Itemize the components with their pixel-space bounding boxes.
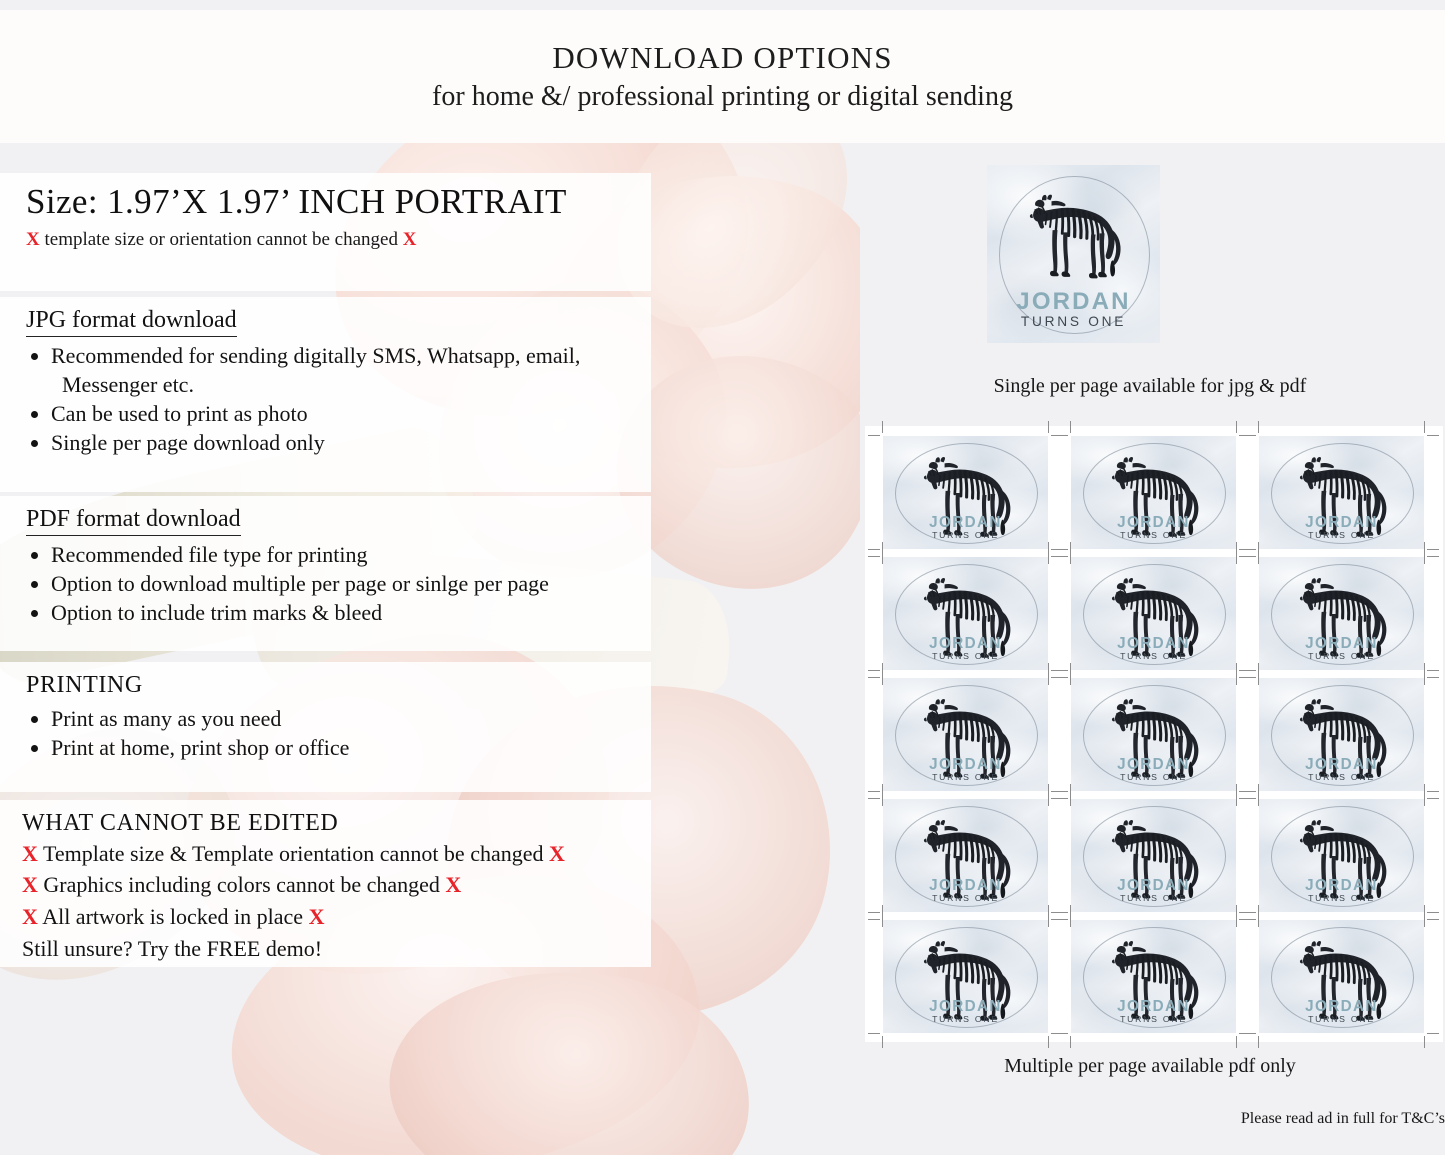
trim-mark [882,542,883,554]
sticker-subtitle: TURNS ONE [1071,773,1236,782]
sticker-subtitle: TURNS ONE [987,315,1160,329]
sticker-name: JORDAN [883,757,1048,772]
bullet-dot-icon [31,411,38,418]
cannot-edit-line-text: Graphics including colors cannot be chan… [43,872,439,897]
trim-mark [868,549,880,550]
list-item: Option to download multiple per page or … [26,569,637,598]
trim-mark [1258,1036,1259,1048]
trim-mark [868,919,880,920]
x-mark-icon: X [22,872,38,897]
sticker-subtitle: TURNS ONE [1259,531,1424,540]
sticker-subtitle: TURNS ONE [883,894,1048,903]
trim-mark [1427,919,1439,920]
x-mark-icon: X [403,229,417,250]
sticker-name: JORDAN [1071,515,1236,530]
trim-mark [1048,663,1049,675]
list-item-label: Single per page download only [51,430,325,455]
pdf-heading: PDF format download [26,506,241,536]
x-mark-icon: X [549,841,565,866]
trim-mark [1424,542,1425,554]
trim-mark [1258,784,1259,796]
trim-mark [882,1036,883,1048]
trim-mark [1427,791,1439,792]
printing-bullet-list: Print as many as you need Print at home,… [26,704,637,762]
sticker-grid-cell: JORDANTURNS ONE [883,678,1048,791]
sticker-card: JORDANTURNS ONE [883,920,1048,1033]
trim-mark [1056,1033,1068,1034]
caption-multiple-per-page: Multiple per page available pdf only [855,1055,1445,1078]
jpg-heading: JPG format download [26,307,237,337]
trim-mark [868,1033,880,1034]
sticker-card: JORDANTURNS ONE [1259,799,1424,912]
sticker-card: JORDANTURNS ONE [1259,920,1424,1033]
list-item-continuation: Messenger etc. [51,370,637,399]
list-item-label: Recommended file type for printing [51,542,367,567]
trim-mark [1244,435,1256,436]
sticker-card: JORDANTURNS ONE [1259,436,1424,549]
trim-mark [1424,663,1425,675]
trim-mark [1236,421,1237,433]
cannot-edit-closing: Still unsure? Try the FREE demo! [22,933,637,965]
sticker-subtitle: TURNS ONE [1071,894,1236,903]
sticker-card: JORDANTURNS ONE [987,165,1160,343]
single-sticker-preview: JORDANTURNS ONE [987,165,1160,343]
sticker-subtitle: TURNS ONE [1071,1015,1236,1024]
sticker-grid-cell: JORDANTURNS ONE [883,557,1048,670]
sticker-name: JORDAN [883,636,1048,651]
trim-mark [1236,1036,1237,1048]
trim-mark [1236,663,1237,675]
pdf-bullet-list: Recommended file type for printing Optio… [26,540,637,627]
trim-mark [1048,784,1049,796]
x-mark-icon: X [26,229,40,250]
list-item: Recommended for sending digitally SMS, W… [26,341,637,399]
trim-mark [1048,421,1049,433]
zebra-icon [1020,185,1127,285]
trim-mark [1244,791,1256,792]
list-item-label: Print as many as you need [51,706,281,731]
trim-mark [1424,905,1425,917]
trim-mark [1070,905,1071,917]
bullet-dot-icon [31,581,38,588]
list-item: Option to include trim marks & bleed [26,598,637,627]
sticker-name: JORDAN [1259,636,1424,651]
trim-mark [1236,784,1237,796]
trim-mark [1427,556,1439,557]
sticker-grid-cell: JORDANTURNS ONE [1071,678,1236,791]
sticker-card: JORDANTURNS ONE [883,799,1048,912]
sticker-subtitle: TURNS ONE [883,531,1048,540]
sticker-subtitle: TURNS ONE [883,652,1048,661]
list-item: Recommended file type for printing [26,540,637,569]
sticker-grid-cell: JORDANTURNS ONE [1259,920,1424,1033]
trim-mark [1056,677,1068,678]
trim-mark [1427,1033,1439,1034]
sticker-name: JORDAN [883,878,1048,893]
trim-mark [1424,421,1425,433]
bullet-dot-icon [31,440,38,447]
sticker-name: JORDAN [883,999,1048,1014]
cannot-edit-line-text: All artwork is locked in place [42,904,303,929]
sticker-name: JORDAN [1259,999,1424,1014]
sticker-card: JORDANTURNS ONE [883,678,1048,791]
sticker-grid-cell: JORDANTURNS ONE [883,799,1048,912]
x-mark-icon: X [445,872,461,897]
list-item-label: Print at home, print shop or office [51,735,349,760]
trim-mark [1070,784,1071,796]
bullet-dot-icon [31,552,38,559]
trim-mark [1070,1036,1071,1048]
trim-mark [882,421,883,433]
trim-mark [1056,556,1068,557]
trim-mark [882,663,883,675]
trim-mark [1427,677,1439,678]
trim-mark [868,677,880,678]
bullet-dot-icon [31,745,38,752]
trim-mark [1424,784,1425,796]
jpg-bullet-list: Recommended for sending digitally SMS, W… [26,341,637,457]
zebra-illustration [1020,185,1127,290]
trim-mark [1056,791,1068,792]
size-note: X template size or orientation cannot be… [26,229,637,252]
bullet-dot-icon [31,716,38,723]
x-mark-icon: X [309,904,325,929]
list-item-label: Recommended for sending digitally SMS, W… [51,343,580,368]
x-mark-icon: X [22,841,38,866]
list-item: Single per page download only [26,428,637,457]
sticker-card: JORDANTURNS ONE [883,436,1048,549]
trim-mark [868,912,880,913]
size-title: Size: 1.97’X 1.97’ INCH PORTRAIT [26,183,637,222]
x-mark-icon: X [22,904,38,929]
sticker-grid-cell: JORDANTURNS ONE [1259,678,1424,791]
list-item: Can be used to print as photo [26,399,637,428]
sticker-grid-cell: JORDANTURNS ONE [1071,436,1236,549]
sticker-name: JORDAN [987,290,1160,314]
sticker-card: JORDANTURNS ONE [1259,678,1424,791]
sticker-subtitle: TURNS ONE [883,773,1048,782]
trim-mark [1048,1036,1049,1048]
preview-column: JORDANTURNS ONE Single per page availabl… [855,150,1445,1155]
sticker-grid-cell: JORDANTURNS ONE [883,920,1048,1033]
trim-mark [1258,542,1259,554]
trim-mark [1244,670,1256,671]
sticker-grid-cell: JORDANTURNS ONE [883,436,1048,549]
caption-single-per-page: Single per page available for jpg & pdf [855,375,1445,398]
petal-shape [372,941,768,1155]
pdf-panel: PDF format download Recommended file typ… [0,496,651,651]
trim-mark [1056,670,1068,671]
trim-mark [1070,421,1071,433]
page-header: DOWNLOAD OPTIONS for home &/ professiona… [0,10,1445,143]
sticker-card: JORDANTURNS ONE [1071,678,1236,791]
sticker-name: JORDAN [1259,515,1424,530]
sticker-grid-cell: JORDANTURNS ONE [1071,799,1236,912]
trim-mark [1244,919,1256,920]
cannot-edit-heading: WHAT CANNOT BE EDITED [22,810,637,838]
size-panel: Size: 1.97’X 1.97’ INCH PORTRAIT X templ… [0,173,651,291]
sticker-card: JORDANTURNS ONE [1259,557,1424,670]
cannot-edit-panel: WHAT CANNOT BE EDITED X Template size & … [0,800,651,967]
trim-mark [1048,905,1049,917]
trim-mark [1244,912,1256,913]
trim-mark [1056,549,1068,550]
page-subtitle: for home &/ professional printing or dig… [432,81,1013,113]
bullet-dot-icon [31,353,38,360]
list-item: Print at home, print shop or office [26,733,637,762]
trim-mark [868,791,880,792]
sticker-grid-cell: JORDANTURNS ONE [1071,920,1236,1033]
sticker-subtitle: TURNS ONE [883,1015,1048,1024]
trim-mark [1244,677,1256,678]
trim-mark [1244,556,1256,557]
page-title: DOWNLOAD OPTIONS [552,40,892,76]
sticker-name: JORDAN [1071,636,1236,651]
printing-heading: PRINTING [26,672,637,700]
trim-mark [868,556,880,557]
sticker-grid-cell: JORDANTURNS ONE [1259,557,1424,670]
cannot-edit-line-text: Template size & Template orientation can… [43,841,544,866]
sticker-card: JORDANTURNS ONE [1071,799,1236,912]
sticker-card: JORDANTURNS ONE [1071,920,1236,1033]
sticker-card: JORDANTURNS ONE [1071,436,1236,549]
multi-sticker-sheet: JORDANTURNS ONE JORDANTURNS ON [865,426,1443,1042]
trim-mark [882,784,883,796]
bullet-dot-icon [31,610,38,617]
trim-mark [1056,919,1068,920]
sticker-name: JORDAN [1071,757,1236,772]
sticker-subtitle: TURNS ONE [1071,652,1236,661]
sticker-grid-cell: JORDANTURNS ONE [1259,799,1424,912]
sticker-card: JORDANTURNS ONE [1071,557,1236,670]
trim-mark [868,670,880,671]
trim-mark [1427,549,1439,550]
cannot-edit-line: X Graphics including colors cannot be ch… [22,869,637,901]
list-item-label: Option to download multiple per page or … [51,571,549,596]
trim-mark [1258,663,1259,675]
sticker-name: JORDAN [1259,757,1424,772]
printing-panel: PRINTING Print as many as you need Print… [0,662,651,792]
list-item: Print as many as you need [26,704,637,733]
trim-mark [1244,1033,1256,1034]
sticker-name: JORDAN [1071,878,1236,893]
sticker-subtitle: TURNS ONE [1259,894,1424,903]
sticker-subtitle: TURNS ONE [1259,773,1424,782]
trim-mark [1244,798,1256,799]
trim-mark [868,798,880,799]
trim-mark [882,905,883,917]
trim-mark [1070,663,1071,675]
trim-mark [1427,798,1439,799]
trim-mark [1427,435,1439,436]
sticker-name: JORDAN [1071,999,1236,1014]
sticker-subtitle: TURNS ONE [1259,652,1424,661]
sticker-grid-cell: JORDANTURNS ONE [1259,436,1424,549]
jpg-panel: JPG format download Recommended for send… [0,297,651,492]
trim-mark [1424,1036,1425,1048]
trim-mark [1070,542,1071,554]
trim-mark [1056,798,1068,799]
trim-mark [1244,549,1256,550]
sticker-name: JORDAN [883,515,1048,530]
list-item-label: Can be used to print as photo [51,401,308,426]
trim-mark [1048,542,1049,554]
sticker-subtitle: TURNS ONE [1071,531,1236,540]
trim-mark [1258,905,1259,917]
trim-mark [1427,912,1439,913]
sticker-grid-cell: JORDANTURNS ONE [1071,557,1236,670]
sticker-card: JORDANTURNS ONE [883,557,1048,670]
trim-mark [1236,905,1237,917]
terms-note: Please read ad in full for T&C’s [855,1110,1445,1128]
trim-mark [1056,912,1068,913]
trim-mark [868,435,880,436]
list-item-label: Option to include trim marks & bleed [51,600,382,625]
trim-mark [1056,435,1068,436]
trim-mark [1236,542,1237,554]
sticker-subtitle: TURNS ONE [1259,1015,1424,1024]
cannot-edit-line: X Template size & Template orientation c… [22,838,637,870]
cannot-edit-line: X All artwork is locked in place X [22,901,637,933]
size-note-text: template size or orientation cannot be c… [44,229,397,250]
sticker-name: JORDAN [1259,878,1424,893]
sticker-grid: JORDANTURNS ONE JORDANTURNS ON [883,436,1425,1033]
trim-mark [1258,421,1259,433]
trim-mark [1427,670,1439,671]
